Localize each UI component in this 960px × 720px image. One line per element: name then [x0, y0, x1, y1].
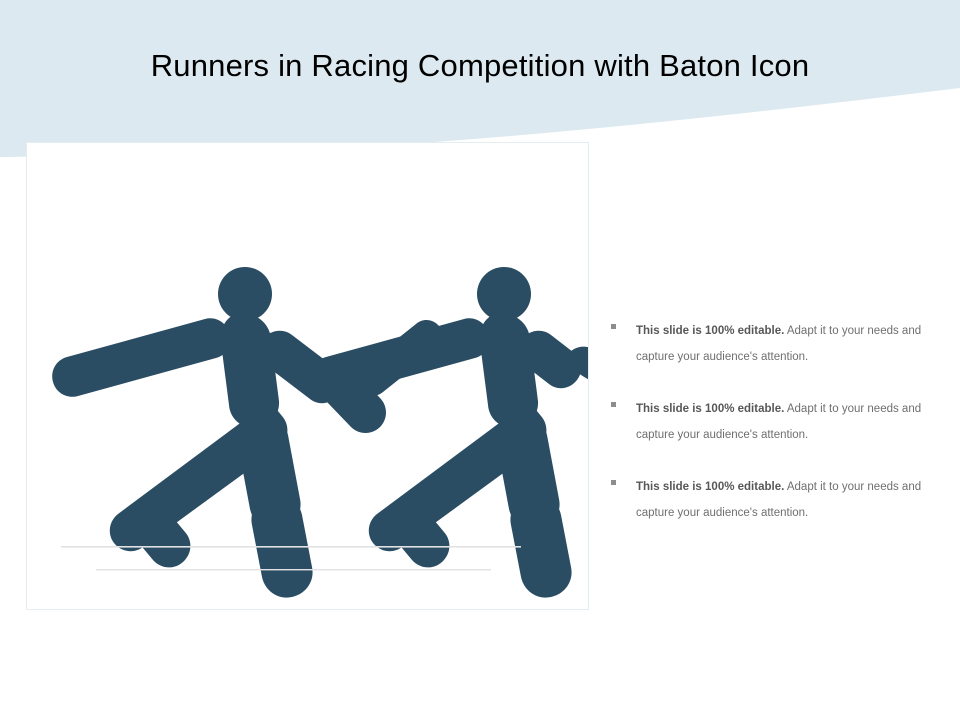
bullet-text: This slide is 100% editable. Adapt it to… [636, 325, 921, 363]
bullet-text: This slide is 100% editable. Adapt it to… [636, 481, 921, 519]
list-item: This slide is 100% editable. Adapt it to… [610, 318, 950, 370]
bullet-square-icon [611, 480, 616, 485]
bullet-lead-text: This slide is 100% editable. [636, 403, 784, 415]
list-item: This slide is 100% editable. Adapt it to… [610, 396, 950, 448]
slide-canvas: Runners in Racing Competition with Baton… [0, 0, 960, 720]
bullet-square-icon [611, 324, 616, 329]
page-title: Runners in Racing Competition with Baton… [0, 48, 960, 84]
bullet-lead-text: This slide is 100% editable. [636, 481, 784, 493]
bullet-square-icon [611, 402, 616, 407]
bullet-lead-text: This slide is 100% editable. [636, 325, 784, 337]
image-panel-frame [26, 142, 589, 610]
bullet-list: This slide is 100% editable. Adapt it to… [610, 318, 950, 526]
bullet-text: This slide is 100% editable. Adapt it to… [636, 403, 921, 441]
list-item: This slide is 100% editable. Adapt it to… [610, 474, 950, 526]
runners-with-baton-icon [27, 143, 589, 610]
